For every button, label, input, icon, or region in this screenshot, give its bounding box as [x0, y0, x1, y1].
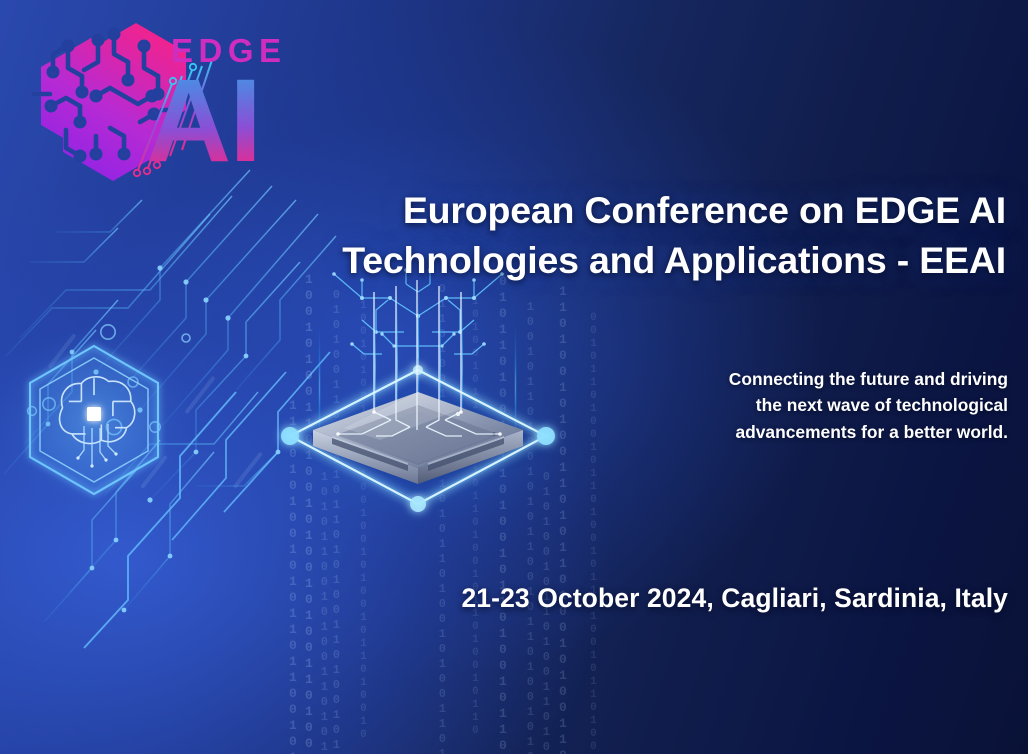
tagline-line-3: advancements for a better world.	[608, 419, 1008, 445]
title-line-2: Technologies and Applications - EEAI	[246, 236, 1006, 286]
logo-ai-text: AI	[146, 62, 260, 180]
tagline: Connecting the future and driving the ne…	[608, 366, 1008, 445]
event-date-location: 21-23 October 2024, Cagliari, Sardinia, …	[461, 583, 1008, 614]
tagline-line-2: the next wave of technological	[608, 392, 1008, 418]
binary-stream: 0010110100101101001011010010110100	[588, 312, 598, 754]
title-line-1: European Conference on EDGE AI	[246, 186, 1006, 236]
page-title: European Conference on EDGE AI Technolog…	[246, 186, 1006, 286]
tagline-line-1: Connecting the future and driving	[608, 366, 1008, 392]
edge-ai-logo: EDGE AI	[6, 10, 306, 185]
processor-chip-graphic	[258, 262, 578, 562]
conference-banner: 1001010011010010100101001101001010 01010…	[0, 0, 1028, 754]
